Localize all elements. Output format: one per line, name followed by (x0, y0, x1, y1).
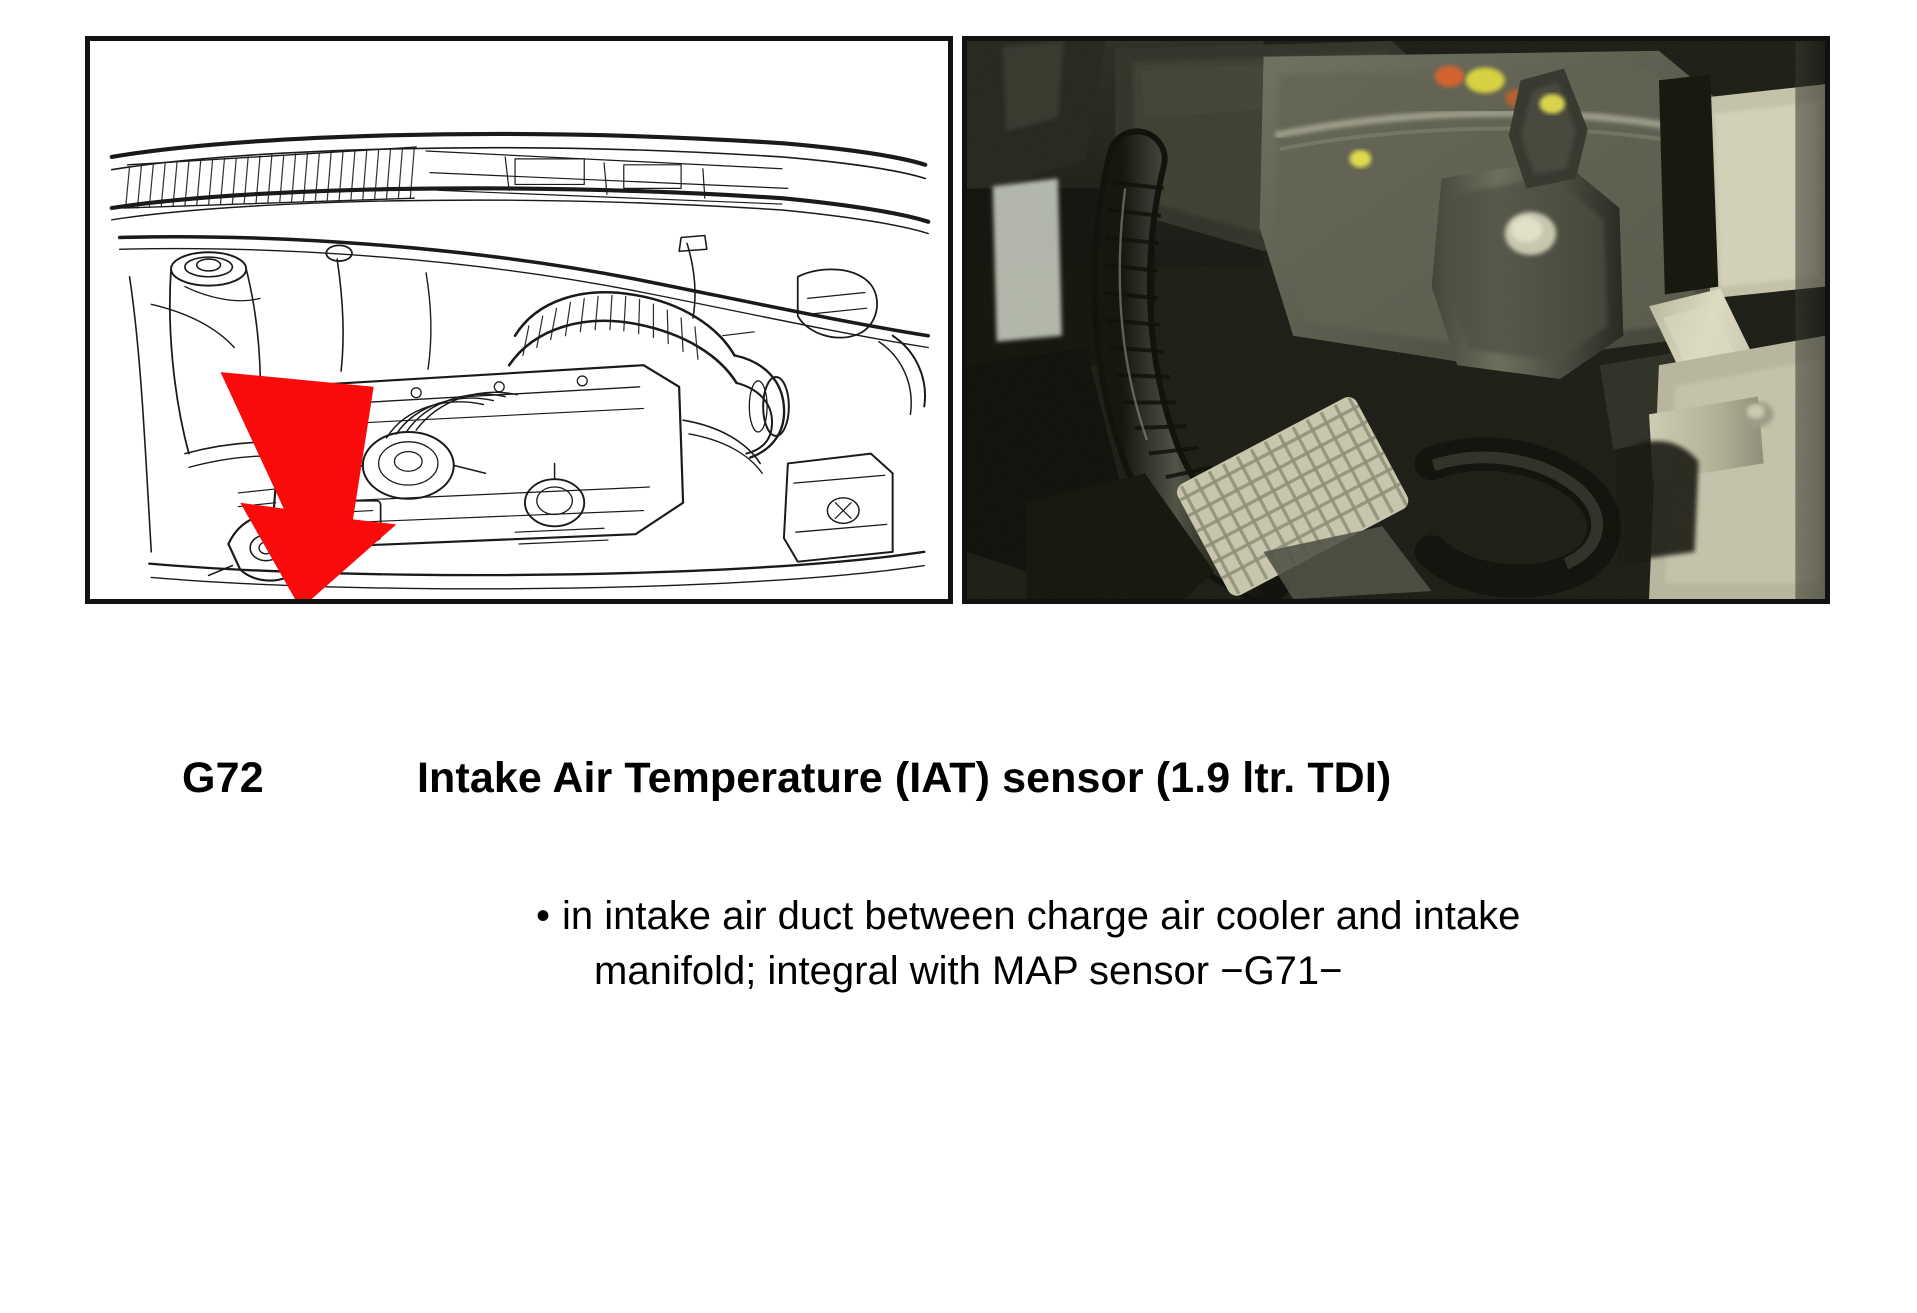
figure-row (0, 0, 1917, 660)
diagram-panel (85, 36, 953, 604)
photo-panel (962, 36, 1830, 604)
caption-title: Intake Air Temperature (IAT) sensor (1.9… (417, 752, 1391, 804)
notes-list: • in intake air duct between charge air … (536, 889, 1736, 999)
note-line-2: manifold; integral with MAP sensor −G71− (562, 944, 1736, 999)
engine-bay-line-drawing (90, 41, 948, 599)
figure-caption: G72 Intake Air Temperature (IAT) sensor … (0, 752, 1917, 824)
note-line-1: in intake air duct between charge air co… (562, 889, 1736, 944)
bullet-icon: • (536, 889, 562, 944)
list-item: • in intake air duct between charge air … (536, 889, 1736, 999)
note-text: in intake air duct between charge air co… (562, 889, 1736, 999)
caption-component-code: G72 (182, 752, 264, 804)
iat-sensor-photo (967, 41, 1825, 599)
